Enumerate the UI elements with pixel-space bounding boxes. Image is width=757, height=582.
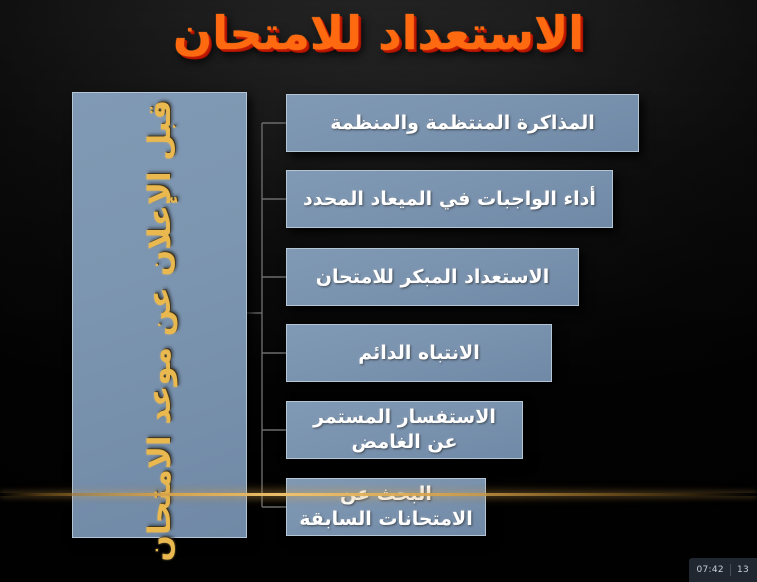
total-duration: 13	[731, 565, 755, 575]
left-category-label: قبل الإعلان عن موعد الامتحان	[140, 100, 180, 530]
item-box-6[interactable]: البحث عن الامتحانات السابقة	[286, 478, 486, 536]
item-label-5: الاستفسار المستمر عن الغامض	[287, 405, 522, 455]
player-time-bar[interactable]: 07:42 13	[689, 558, 757, 582]
item-label-6: البحث عن الامتحانات السابقة	[287, 482, 485, 532]
item-box-2[interactable]: أداء الواجبات في الميعاد المحدد	[286, 170, 613, 228]
item-box-4[interactable]: الانتباه الدائم	[286, 324, 552, 382]
item-box-1[interactable]: المذاكرة المنتظمة والمنظمة	[286, 94, 639, 152]
left-category-panel: قبل الإعلان عن موعد الامتحان	[72, 92, 247, 538]
item-box-5[interactable]: الاستفسار المستمر عن الغامض	[286, 401, 523, 459]
item-label-2: أداء الواجبات في الميعاد المحدد	[295, 187, 604, 212]
page-title: الاستعداد للامتحان	[0, 2, 757, 64]
elapsed-time: 07:42	[691, 565, 730, 575]
item-label-3: الاستعداد المبكر للامتحان	[308, 265, 557, 290]
item-label-1: المذاكرة المنتظمة والمنظمة	[322, 111, 603, 136]
presentation-slide: الاستعداد للامتحان قبل الإعلان عن موعد ا…	[0, 0, 757, 582]
item-box-3[interactable]: الاستعداد المبكر للامتحان	[286, 248, 579, 306]
item-label-4: الانتباه الدائم	[350, 341, 487, 366]
